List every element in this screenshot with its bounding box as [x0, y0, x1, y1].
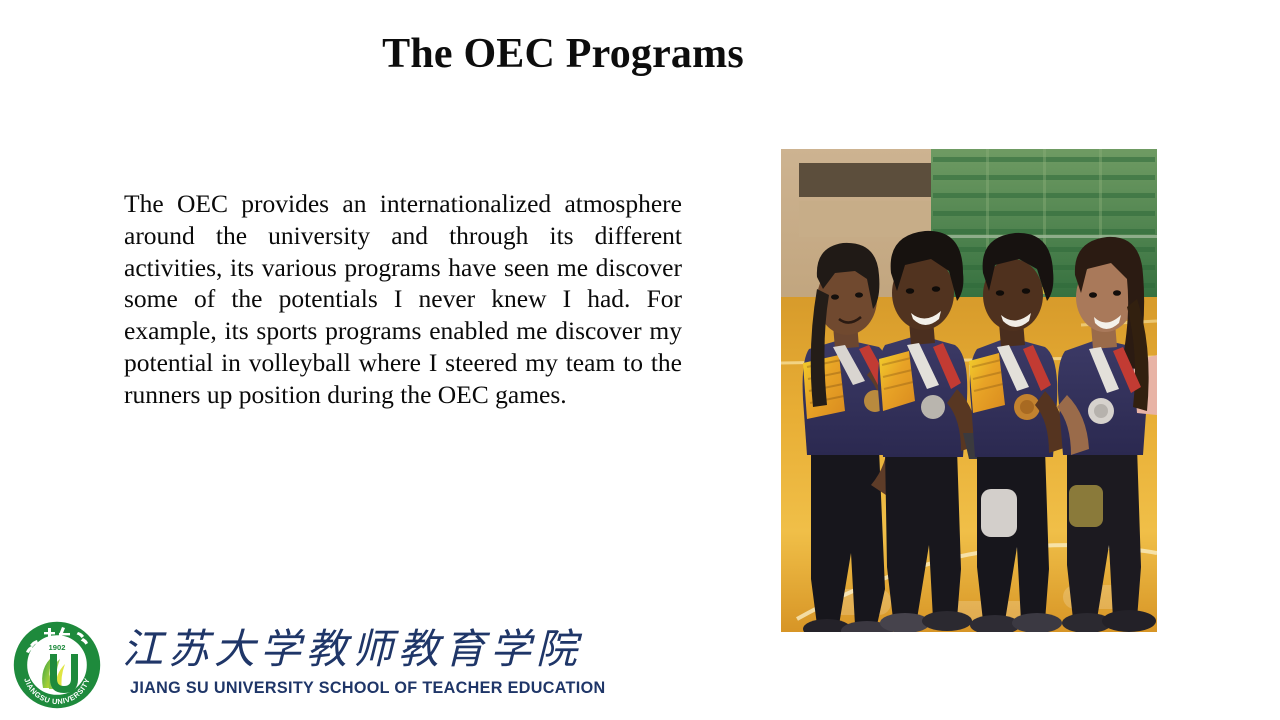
seal-svg: JIANGSU UNIVERSITY 1902	[10, 618, 104, 712]
slide-canvas: The OEC Programs The OEC provides an int…	[0, 0, 1280, 720]
team-photo-illustration	[781, 149, 1157, 632]
team-photo	[781, 149, 1157, 632]
logo-chinese-name: 江苏大学教师教育学院	[122, 624, 582, 674]
svg-text:1902: 1902	[49, 643, 66, 652]
university-logo: JIANGSU UNIVERSITY 1902 江苏大学教师教育学院 JIANG…	[10, 618, 550, 714]
jiangsu-university-seal-icon: JIANGSU UNIVERSITY 1902	[10, 618, 104, 712]
logo-english-name: JIANG SU UNIVERSITY SCHOOL OF TEACHER ED…	[130, 678, 605, 698]
body-paragraph: The OEC provides an internationalized at…	[124, 188, 682, 411]
page-title: The OEC Programs	[0, 28, 1126, 80]
